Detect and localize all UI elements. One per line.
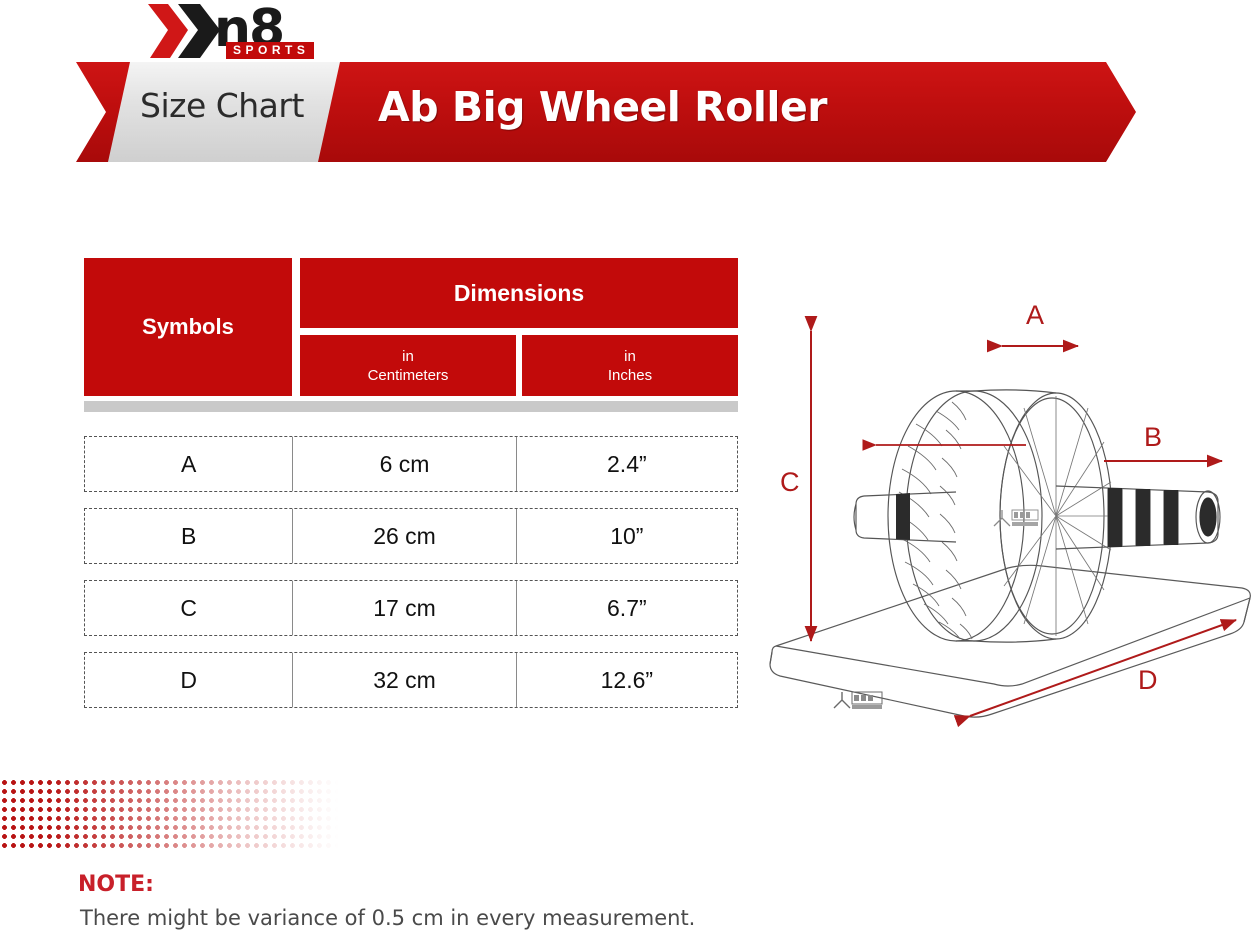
cell-inches: 6.7”: [516, 581, 737, 635]
header-dimensions: Dimensions: [300, 258, 738, 328]
mat-logo-xn8: [834, 692, 882, 709]
header-centimeters: in Centimeters: [300, 335, 516, 396]
note-label: NOTE:: [78, 872, 154, 897]
cell-inches: 10”: [516, 509, 737, 563]
header-underline-bar: [84, 401, 738, 412]
cell-inches: 12.6”: [516, 653, 737, 707]
cell-centimeters: 17 cm: [292, 581, 515, 635]
xn8-sports-logo: n8 SPORTS: [148, 2, 334, 62]
cell-centimeters: 26 cm: [292, 509, 515, 563]
header-inches-line2: Inches: [608, 366, 652, 385]
dimension-label-a: A: [1026, 300, 1044, 330]
table-row: A 6 cm 2.4”: [84, 436, 738, 492]
dimension-label-d: D: [1138, 665, 1158, 695]
table-body: A 6 cm 2.4” B 26 cm 10” C 17 cm 6.7” D 3…: [84, 436, 738, 724]
page-header: n8 SPORTS Size Chart Ab Big Wheel Roller: [0, 0, 1256, 175]
page-title: Ab Big Wheel Roller: [378, 83, 827, 131]
header-inches: in Inches: [522, 335, 738, 396]
cell-inches: 2.4”: [516, 437, 737, 491]
dimension-label-c: C: [780, 467, 800, 497]
header-symbols: Symbols: [84, 258, 292, 396]
cell-symbol: A: [85, 437, 292, 491]
size-chart-table: Symbols Dimensions in Centimeters in Inc…: [84, 258, 738, 404]
dimension-label-b: B: [1144, 422, 1162, 452]
red-halftone-dot-gradient: [0, 778, 338, 848]
cell-symbol: D: [85, 653, 292, 707]
product-diagram: A B C D: [756, 296, 1256, 746]
handle-left-grip: [896, 493, 910, 540]
cell-centimeters: 6 cm: [292, 437, 515, 491]
logo-tagline: SPORTS: [226, 42, 314, 59]
header-centimeters-line1: in: [402, 347, 414, 366]
cell-centimeters: 32 cm: [292, 653, 515, 707]
note-text: There might be variance of 0.5 cm in eve…: [80, 906, 695, 930]
table-row: B 26 cm 10”: [84, 508, 738, 564]
arrow-d: [970, 620, 1236, 716]
ab-wheel: [888, 390, 1112, 642]
table-header: Symbols Dimensions in Centimeters in Inc…: [84, 258, 738, 404]
logo-x-icon: [148, 2, 220, 60]
header-centimeters-line2: Centimeters: [368, 366, 449, 385]
size-chart-badge-label: Size Chart: [140, 86, 304, 125]
table-row: C 17 cm 6.7”: [84, 580, 738, 636]
table-row: D 32 cm 12.6”: [84, 652, 738, 708]
header-inches-line1: in: [624, 347, 636, 366]
cell-symbol: C: [85, 581, 292, 635]
handle-right-grips: [1108, 488, 1178, 547]
cell-symbol: B: [85, 509, 292, 563]
